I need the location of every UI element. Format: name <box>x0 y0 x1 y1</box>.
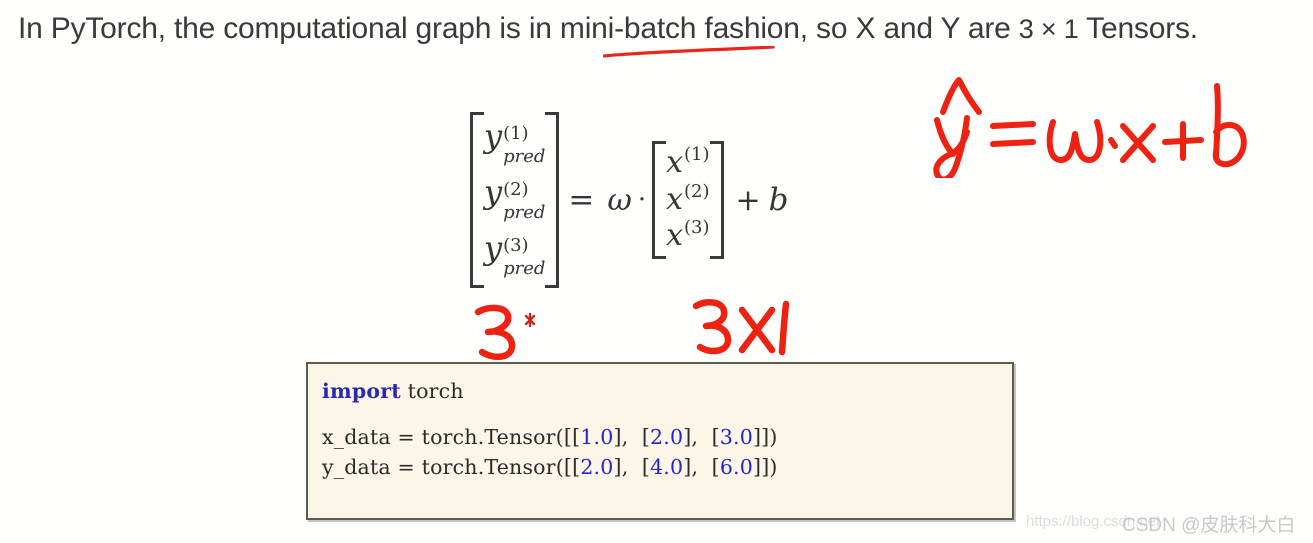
x-base: x <box>666 184 683 216</box>
headline-text-middle: fashion, so X and Y are <box>696 12 1018 45</box>
code-line: y_data = torch.Tensor([[2.0], [4.0], [6.… <box>322 452 1012 482</box>
code-number: 2.0 <box>650 425 683 449</box>
equals-sign: = <box>559 182 603 218</box>
y-superscript-subscript: (1) pred <box>503 131 545 167</box>
x-column-vector: x (1) x (2) x (3) <box>652 141 723 258</box>
omega-symbol: ω <box>603 183 635 218</box>
y-superscript-subscript: (2) pred <box>503 187 545 223</box>
code-span: ], [ <box>683 425 720 449</box>
code-keyword: import <box>322 379 401 403</box>
code-line: x_data = torch.Tensor([[1.0], [2.0], [3.… <box>322 422 1012 452</box>
x-superscript: (3) <box>684 218 710 237</box>
dot-operator: · <box>636 185 652 215</box>
x-base: x <box>666 220 683 252</box>
y-superscript: (1) <box>503 125 545 143</box>
bias-symbol: b <box>769 182 789 218</box>
code-span: x_data = torch.Tensor([[ <box>322 425 580 449</box>
headline-term-mini-batch: mini-batch <box>560 12 696 45</box>
code-span: ], [ <box>613 425 650 449</box>
matrix-row: x (2) <box>666 184 709 216</box>
code-number: 2.0 <box>580 455 613 479</box>
headline-dims: 3 × 1 <box>1019 14 1079 44</box>
handwritten-shape-3x1 <box>688 294 794 360</box>
y-superscript-subscript: (3) pred <box>503 243 545 279</box>
y-base: y <box>484 175 502 210</box>
headline-text-before: In PyTorch, the computational graph is i… <box>18 12 560 45</box>
matrix-row: y (2) pred <box>484 175 545 225</box>
y-base: y <box>484 119 502 154</box>
y-base: y <box>484 231 502 266</box>
red-underline-mini-batch-icon <box>603 46 775 58</box>
code-span: ]]) <box>753 425 778 449</box>
matrix-row: y (1) pred <box>484 119 545 169</box>
plus-sign: + <box>724 183 769 218</box>
code-block: import torch x_data = torch.Tensor([[1.0… <box>306 362 1014 520</box>
code-number: 6.0 <box>720 455 753 479</box>
slide-canvas: In PyTorch, the computational graph is i… <box>0 0 1313 543</box>
code-line: import torch <box>322 376 1012 406</box>
matrix-row: x (3) <box>666 220 709 252</box>
code-line <box>322 406 1012 422</box>
handwritten-count-three <box>466 300 566 362</box>
x-base: x <box>666 147 683 179</box>
y-subscript: pred <box>503 148 545 166</box>
page-title: In PyTorch, the computational graph is i… <box>18 12 1198 46</box>
handwritten-equation-note <box>925 68 1255 178</box>
code-span: ], [ <box>614 455 651 479</box>
y-subscript: pred <box>503 260 545 278</box>
headline-text-after: Tensors. <box>1079 12 1198 45</box>
code-span: torch <box>401 379 464 403</box>
code-span: ]]) <box>753 455 778 479</box>
code-text: import torch x_data = torch.Tensor([[1.0… <box>322 376 1012 482</box>
watermark-brand: CSDN @皮肤科大白 <box>1122 510 1295 537</box>
matrix-row: y (3) pred <box>484 231 545 281</box>
code-number: 3.0 <box>720 425 753 449</box>
y-pred-column-vector: y (1) pred y (2) pred y (3) pred <box>470 112 559 288</box>
y-superscript: (2) <box>503 181 545 199</box>
y-superscript: (3) <box>503 237 545 255</box>
matrix-row: x (1) <box>666 147 709 179</box>
code-span: ], [ <box>683 455 720 479</box>
x-superscript: (1) <box>684 145 710 164</box>
matrix-equation: y (1) pred y (2) pred y (3) pred <box>470 112 789 288</box>
code-number: 4.0 <box>650 455 683 479</box>
code-number: 1.0 <box>580 425 613 449</box>
code-span: y_data = torch.Tensor([[ <box>322 455 580 479</box>
x-superscript: (2) <box>684 182 710 201</box>
y-subscript: pred <box>503 204 545 222</box>
